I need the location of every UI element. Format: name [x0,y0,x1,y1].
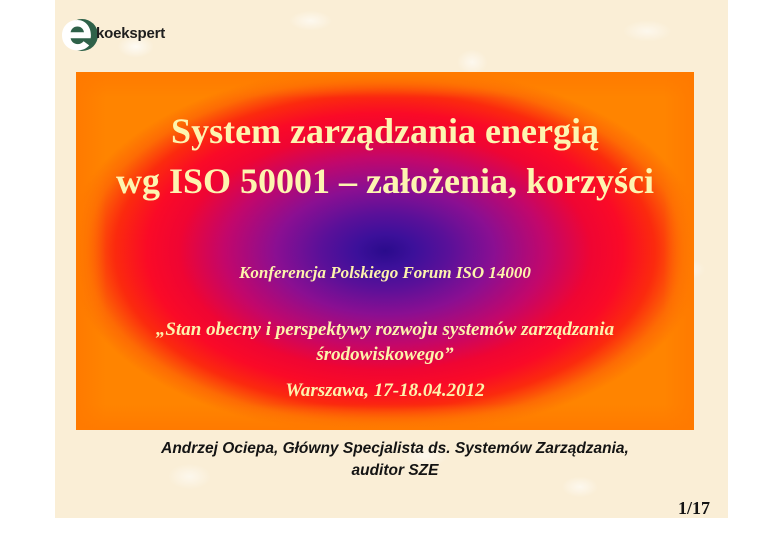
slide-canvas: koekspert System zarządzania energią wg … [55,0,728,518]
author-line-2: auditor SZE [95,460,695,482]
slide-page: koekspert System zarządzania energią wg … [0,0,768,543]
page-number: 1/17 [678,498,710,519]
slide-title-line-1: System zarządzania energią [76,110,694,154]
title-gradient-box: System zarządzania energią wg ISO 50001 … [76,72,694,430]
conference-name: Konferencja Polskiego Forum ISO 14000 [76,263,694,283]
brand-logo: koekspert [58,14,228,58]
author-line-1: Andrzej Ociepa, Główny Specjalista ds. S… [95,438,695,460]
slide-title-line-2: wg ISO 50001 – założenia, korzyści [76,160,694,204]
conference-theme: „Stan obecny i perspektywy rozwoju syste… [102,317,668,367]
circle-e-logo-icon [58,16,100,54]
place-and-date: Warszawa, 17-18.04.2012 [76,380,694,402]
title-box-content: System zarządzania energią wg ISO 50001 … [76,72,694,430]
author-block: Andrzej Ociepa, Główny Specjalista ds. S… [95,438,695,482]
logo-wordmark: koekspert [96,25,165,42]
